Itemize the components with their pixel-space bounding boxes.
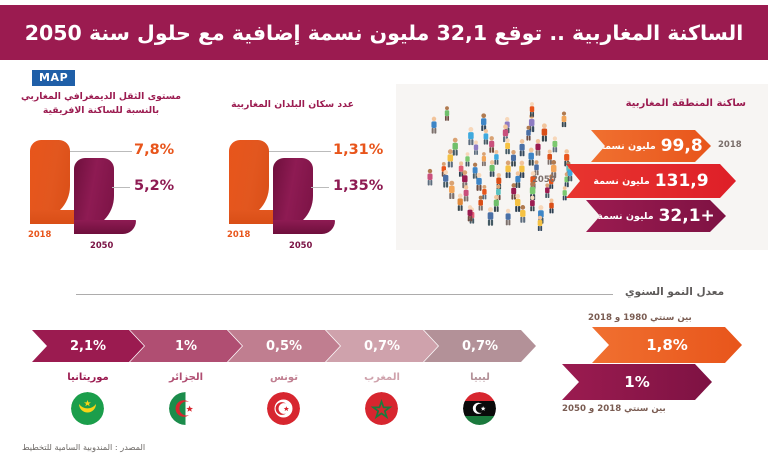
map-agency-logo: MAP (32, 70, 75, 86)
note-period-1980-2018: بين سنتي 1980 و 2018 (588, 313, 692, 323)
label-morocco: المغرب (336, 372, 428, 383)
arrow-growth-2018-2050-value: 1% (624, 373, 649, 391)
banner-2018-unit: مليون نسمة (599, 141, 655, 152)
chart-title-demographic-weight: مستوى الثقل الديمغرافي المغاربي بالنسبة … (8, 90, 194, 118)
chevron-mauritania: 2,1% (32, 330, 144, 362)
bar-2018-demographic (30, 140, 70, 220)
leader-line-1-31 (269, 151, 331, 152)
source-footer: المصدر : المندوبية السامية للتخطيط (22, 442, 145, 452)
leader-line-5-2 (112, 187, 130, 188)
flag-tunisia-icon (267, 392, 300, 425)
note-period-2018-2050: بين سنتي 2018 و 2050 (562, 404, 666, 414)
growth-section-title: معدل النمو السنوي (625, 286, 724, 298)
bars-demographic-weight: 7,8% 5,2% 2018 2050 (8, 134, 194, 244)
leader-line-7-8 (70, 151, 132, 152)
value-label-demographic-2050: 5,2% (134, 178, 174, 194)
label-algeria: الجزائر (140, 372, 232, 383)
bar-2050-maghreb-foot (273, 220, 335, 234)
label-tunisia: تونس (238, 372, 330, 383)
bar-2018-maghreb (229, 140, 269, 220)
label-mauritania: موريتانيا (42, 372, 134, 383)
chevron-morocco-value: 0,7% (364, 339, 400, 354)
header-bar: الساكنة المغاربية .. توقع 32,1 مليون نسم… (0, 5, 768, 60)
leader-line-1-35 (311, 187, 329, 188)
banner-difference-number: +32,1 (659, 206, 715, 226)
flag-mauritania-icon (71, 392, 104, 425)
year-label-demographic-2018: 2018 (28, 229, 51, 239)
chevron-algeria-value: 1% (175, 339, 197, 354)
year-label-maghreb-2050: 2050 (289, 240, 312, 250)
chart-demographic-weight: مستوى الثقل الديمغرافي المغاربي بالنسبة … (8, 90, 194, 118)
value-label-demographic-2018: 7,8% (134, 142, 174, 158)
bars-maghreb-population: 1,31% 1,35% 2018 2050 (205, 134, 385, 244)
banner-population-2018: 99,8 مليون نسمة (591, 130, 711, 162)
chevron-morocco: 0,7% (326, 330, 438, 362)
chevron-mauritania-value: 2,1% (70, 339, 106, 354)
banner-2018-number: 99,8 (661, 136, 703, 156)
arrow-growth-1980-2018-value: 1,8% (646, 336, 688, 354)
chevron-libya: 0,7% (424, 330, 536, 362)
chevron-tunisia: 0,5% (228, 330, 340, 362)
page-title: الساكنة المغاربية .. توقع 32,1 مليون نسم… (25, 21, 743, 45)
population-panel-title: ساكنة المنطقة المغاربية (626, 98, 746, 109)
flag-libya-icon (463, 392, 496, 425)
bar-2050-demographic-foot (74, 220, 136, 234)
banner-2050-number: 131,9 (655, 171, 709, 191)
growth-section-divider (76, 294, 613, 295)
chart-title-maghreb-population: عدد سكان البلدان المغاربية (205, 98, 380, 112)
year-label-maghreb-2018: 2018 (227, 229, 250, 239)
population-panel: ساكنة المنطقة المغاربية 99,8 مليون نسمة … (396, 84, 768, 250)
chart-maghreb-population: عدد سكان البلدان المغاربية (205, 98, 380, 112)
value-label-maghreb-2050: 1,35% (333, 178, 383, 194)
chevron-tunisia-value: 0,5% (266, 339, 302, 354)
arrow-growth-1980-2018: 1,8% (592, 327, 742, 363)
arrow-growth-2018-2050: 1% (562, 364, 712, 400)
flag-algeria-icon (169, 392, 202, 425)
flag-morocco-icon (365, 392, 398, 425)
label-libya: ليبيا (434, 372, 526, 383)
chevron-algeria: 1% (130, 330, 242, 362)
year-label-demographic-2050: 2050 (90, 240, 113, 250)
value-label-maghreb-2018: 1,31% (333, 142, 383, 158)
banner-population-difference: +32,1 مليون نسمة (586, 200, 726, 232)
year-tag-2050: 2050 (532, 175, 556, 185)
banner-2050-unit: مليون نسمة (593, 176, 649, 187)
year-tag-2018: 2018 (718, 140, 742, 150)
banner-difference-unit: مليون نسمة (597, 211, 653, 222)
chevron-libya-value: 0,7% (462, 339, 498, 354)
banner-population-2050: 131,9 مليون نسمة (566, 164, 736, 198)
